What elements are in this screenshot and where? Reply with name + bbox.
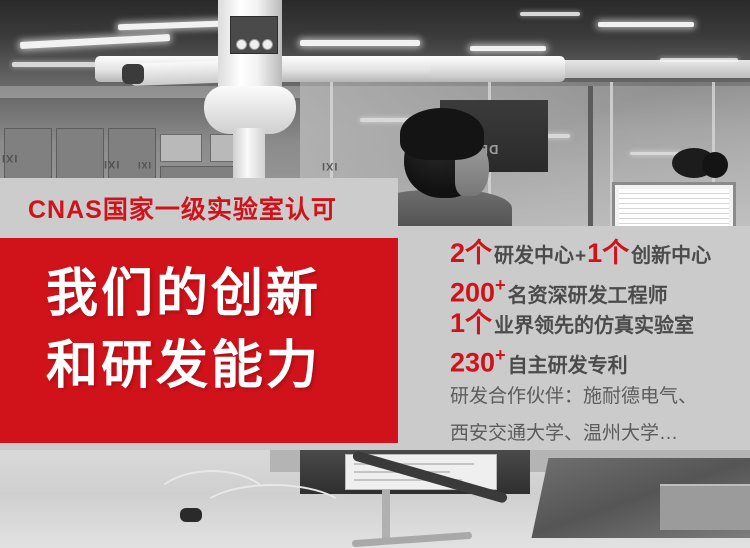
stat-number: 1 — [450, 308, 465, 338]
robot-arm-cap — [122, 64, 144, 84]
partners-block: 研发合作伙伴：施耐德电气、 西安交通大学、温州大学… — [450, 378, 750, 452]
banner-stage: DELTA IXI IXI IXI IXI CNAS国家一级实验室认 — [0, 0, 750, 548]
indicator-dot-icon — [262, 39, 273, 50]
floor-cable — [196, 484, 350, 546]
gantry-rail-secondary — [430, 60, 750, 78]
machine-label: IXI — [104, 158, 120, 170]
bay-window — [160, 134, 202, 162]
desk-drawer — [660, 484, 750, 530]
stat-unit-2: 个 — [602, 238, 629, 268]
machine-label: IXI — [138, 160, 152, 170]
stat-number: 200 — [450, 278, 495, 308]
machine-label: IXI — [322, 160, 338, 172]
certification-label: CNAS国家一级实验室认可 — [28, 190, 388, 226]
stat-text-2: 创新中心 — [629, 245, 711, 267]
stat-connector: + — [574, 246, 587, 267]
stat-superscript: + — [495, 345, 506, 365]
stat-text: 自主研发专利 — [506, 355, 628, 377]
lab-photo-bottom — [0, 450, 750, 548]
headline: 我们的创新 和研发能力 — [46, 258, 386, 402]
indicator-dot-icon — [236, 39, 247, 50]
stat-row: 200+名资深研发工程师 — [450, 271, 750, 306]
stat-text: 研发中心 — [492, 245, 574, 267]
ceiling-lamp — [598, 22, 694, 27]
ceiling-lamp — [300, 40, 420, 46]
stat-unit: 个 — [465, 238, 492, 268]
chair-base — [352, 532, 472, 547]
stat-row: 1个业界领先的仿真实验室 — [450, 306, 750, 341]
stat-row: 2个研发中心+1个创新中心 — [450, 236, 750, 271]
indicator-dot-icon — [249, 39, 260, 50]
engineer-hair — [400, 108, 484, 160]
stat-row: 230+自主研发专利 — [450, 341, 750, 376]
stat-number-2: 1 — [587, 238, 602, 268]
stat-number: 2 — [450, 238, 465, 268]
robot-head — [204, 86, 296, 134]
support-pole — [588, 86, 593, 226]
headline-line-2: 和研发能力 — [46, 330, 386, 402]
equipment-blob — [702, 152, 728, 178]
stat-superscript: + — [495, 275, 506, 295]
stat-text: 名资深研发工程师 — [506, 285, 668, 307]
machine-label: IXI — [2, 152, 18, 164]
monitor-screen — [619, 189, 729, 226]
partners-line-1: 研发合作伙伴：施耐德电气、 — [450, 378, 750, 415]
workstation-monitor — [612, 182, 736, 226]
lamp-reflection — [630, 152, 680, 155]
ceiling-lamp — [520, 12, 580, 16]
stat-number: 230 — [450, 348, 495, 378]
partners-line-2: 西安交通大学、温州大学… — [450, 415, 750, 452]
stats-list: 2个研发中心+1个创新中心 200+名资深研发工程师 1个业界领先的仿真实验室 … — [450, 236, 750, 376]
stat-unit: 个 — [465, 308, 492, 338]
headline-line-1: 我们的创新 — [46, 258, 386, 330]
ceiling-lamp — [470, 46, 546, 51]
stat-text: 业界领先的仿真实验室 — [492, 315, 694, 337]
chair-post — [382, 490, 390, 542]
robot-control-panel — [230, 16, 278, 54]
